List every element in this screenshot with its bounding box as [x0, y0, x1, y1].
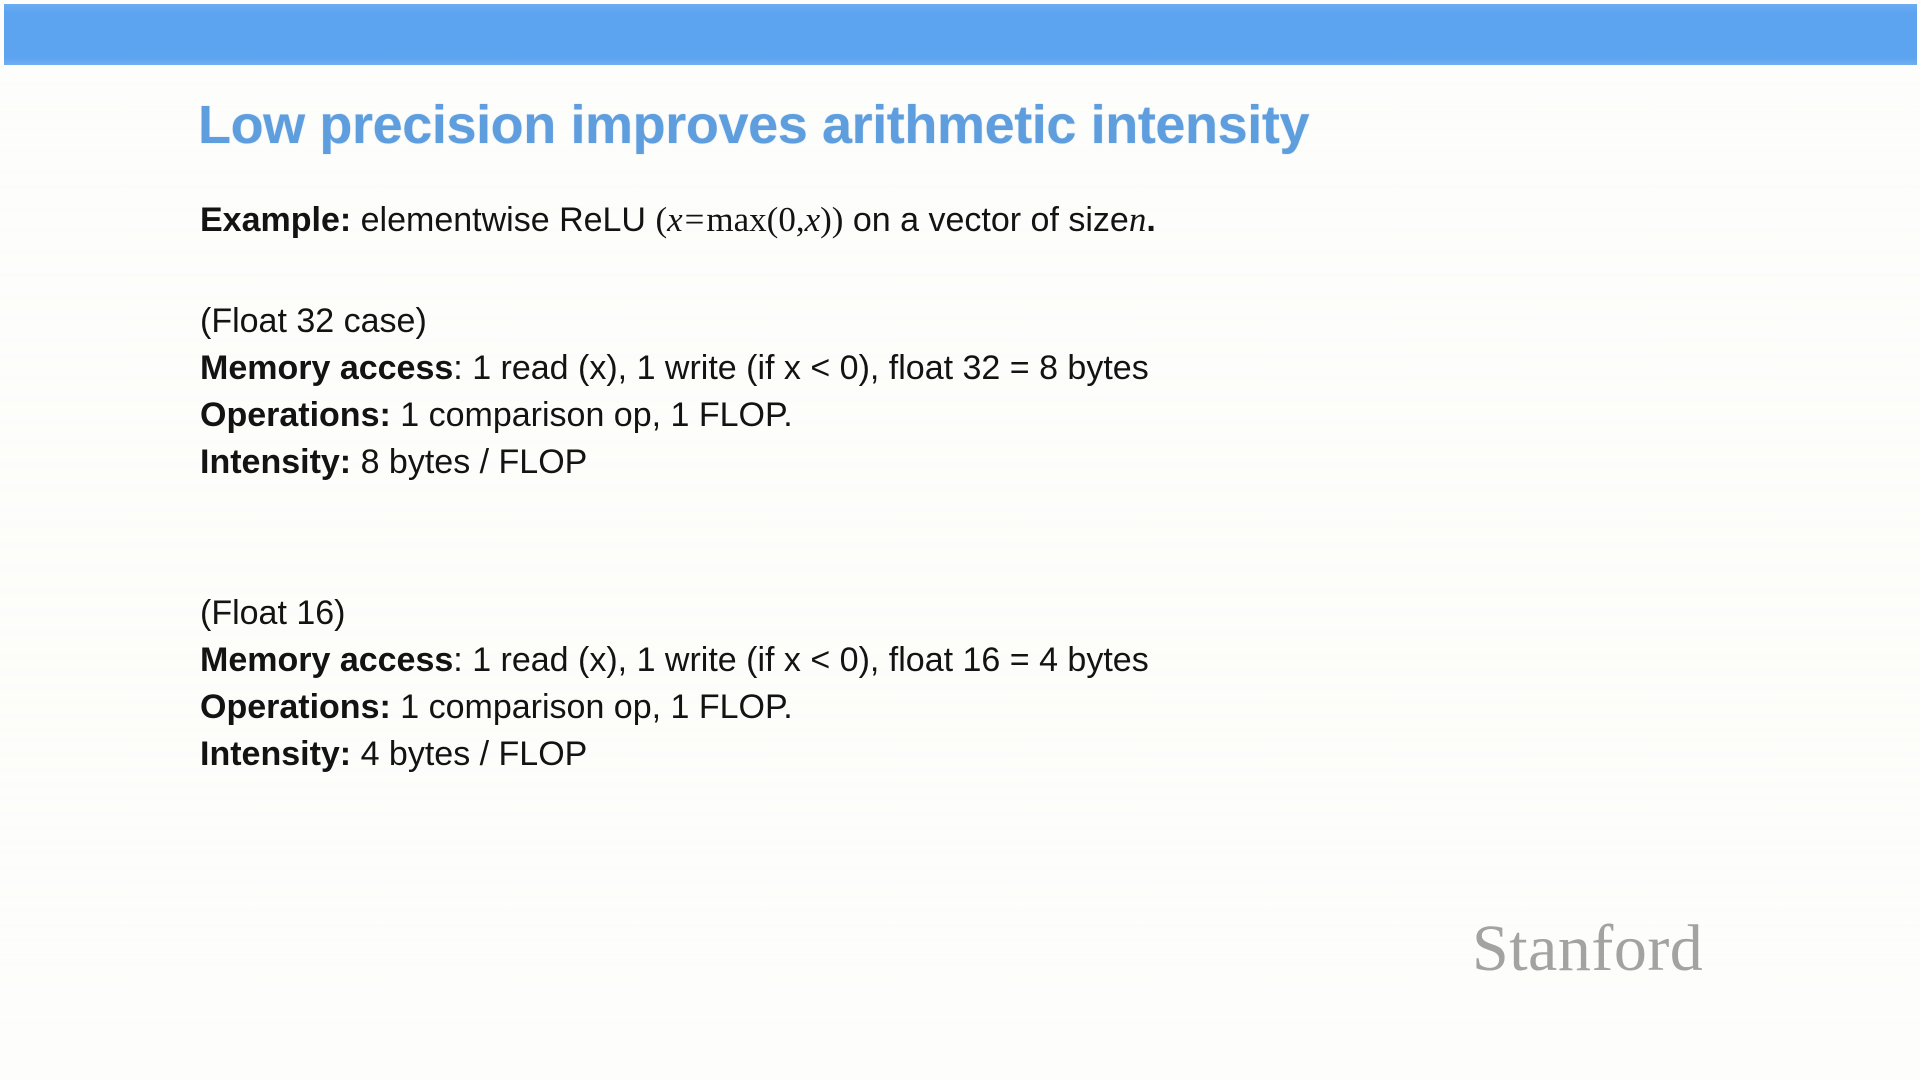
float16-operations-value: 1 comparison op, 1 FLOP.	[400, 688, 792, 726]
slide-body: Example: elementwise ReLU (x=max(0,x)) o…	[200, 196, 1700, 778]
title-banner	[4, 4, 1917, 65]
float16-heading: (Float 16)	[200, 590, 1700, 637]
float32-intensity-row: Intensity: 8 bytes / FLOP	[200, 439, 1700, 486]
example-text-before: elementwise ReLU	[361, 201, 646, 239]
float32-operations-row: Operations: 1 comparison op, 1 FLOP.	[200, 392, 1700, 439]
float32-memory-separator: :	[453, 349, 462, 387]
math-var-n: n	[1129, 200, 1147, 239]
float16-intensity-label: Intensity:	[200, 735, 351, 773]
math-var-x1: x	[667, 200, 683, 239]
example-line: Example: elementwise ReLU (x=max(0,x)) o…	[200, 196, 1700, 244]
math-close-paren: ))	[820, 200, 843, 239]
example-text-after: on a vector of size	[853, 201, 1129, 239]
float32-operations-value: 1 comparison op, 1 FLOP.	[400, 396, 792, 434]
float16-memory-value: 1 read (x), 1 write (if x < 0), float 16…	[472, 641, 1149, 679]
float32-intensity-value: 8 bytes / FLOP	[361, 443, 588, 481]
float16-memory-label: Memory access	[200, 641, 453, 679]
float32-memory-row: Memory access: 1 read (x), 1 write (if x…	[200, 345, 1700, 392]
page-title: Low precision improves arithmetic intens…	[198, 94, 1309, 156]
float32-heading: (Float 32 case)	[200, 298, 1700, 345]
example-period: .	[1146, 201, 1155, 239]
float16-operations-row: Operations: 1 comparison op, 1 FLOP.	[200, 684, 1700, 731]
float32-operations-label: Operations:	[200, 396, 391, 434]
float16-intensity-value: 4 bytes / FLOP	[361, 735, 588, 773]
float16-memory-row: Memory access: 1 read (x), 1 write (if x…	[200, 637, 1700, 684]
relu-formula: (x=max(0,x))	[655, 200, 843, 239]
slide-canvas: Low precision improves arithmetic intens…	[0, 0, 1920, 1080]
math-var-x2: x	[805, 200, 821, 239]
stanford-wordmark: Stanford	[1472, 916, 1703, 982]
math-max-fn: max(0,	[706, 200, 804, 239]
float32-intensity-label: Intensity:	[200, 443, 351, 481]
math-equals: =	[683, 200, 707, 239]
banner-gloss	[4, 4, 1917, 65]
spacer-after-example	[200, 244, 1700, 298]
float16-intensity-row: Intensity: 4 bytes / FLOP	[200, 731, 1700, 778]
float16-operations-label: Operations:	[200, 688, 391, 726]
float16-memory-separator: :	[453, 641, 462, 679]
math-open-paren: (	[655, 200, 667, 239]
spacer-between-blocks	[200, 486, 1700, 590]
example-label: Example:	[200, 201, 351, 239]
float32-memory-label: Memory access	[200, 349, 453, 387]
float32-memory-value: 1 read (x), 1 write (if x < 0), float 32…	[472, 349, 1149, 387]
